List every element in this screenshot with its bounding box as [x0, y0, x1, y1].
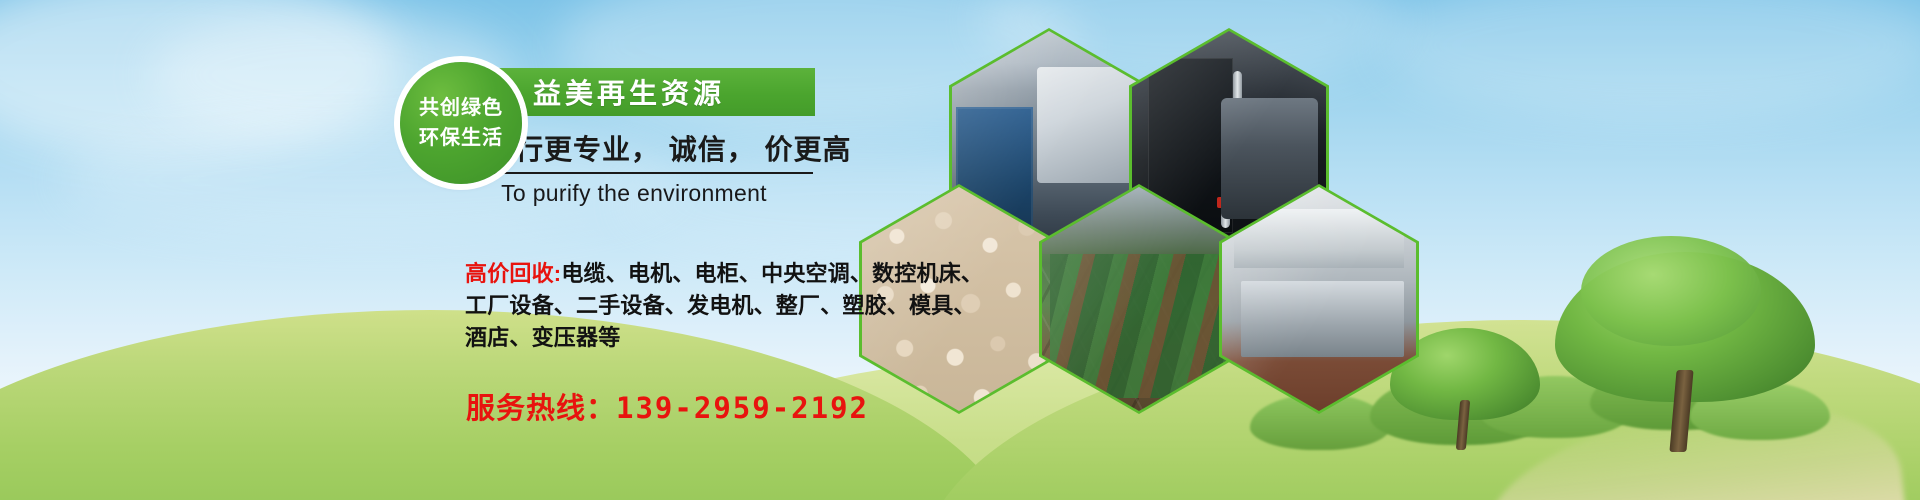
promotional-banner: 益美再生资源 共创绿色 环保生活 比同行更专业， 诚信， 价更高 To puri…	[0, 0, 1920, 500]
badge-line-1: 共创绿色	[419, 93, 503, 123]
hotline-label: 服务热线：	[466, 393, 616, 425]
recycle-line-2: 工厂设备、二手设备、发电机、整厂、塑胶、模具、	[465, 290, 983, 322]
hotline-number[interactable]: 139-2959-2192	[616, 391, 869, 425]
eco-slogan-badge: 共创绿色 环保生活	[400, 62, 522, 184]
recycle-line-3: 酒店、变压器等	[465, 322, 983, 354]
badge-line-2: 环保生活	[419, 123, 503, 153]
bush-decoration	[1690, 382, 1830, 440]
recycle-line-1-items: 电缆、电机、电柜、中央空调、数控机床、	[561, 261, 983, 286]
cloud-decoration	[1380, 0, 1920, 120]
company-name: 益美再生资源	[533, 72, 725, 112]
service-hotline[interactable]: 服务热线：139-2959-2192	[466, 385, 869, 427]
slogan-divider	[455, 172, 813, 174]
bush-decoration	[1590, 364, 1760, 430]
recycle-line-1: 高价回收:电缆、电机、电柜、中央空调、数控机床、	[465, 258, 983, 290]
dirt-path	[1475, 388, 1905, 500]
cloud-decoration	[0, 0, 400, 160]
bush-decoration	[1370, 375, 1550, 445]
recycle-keyword: 高价回收:	[465, 261, 561, 286]
hexagon-photo-grid	[925, 18, 1405, 378]
slogan-english: To purify the environment	[455, 180, 813, 207]
bush-decoration	[1480, 376, 1630, 438]
recycle-list: 高价回收:电缆、电机、电柜、中央空调、数控机床、 工厂设备、二手设备、发电机、整…	[465, 258, 983, 354]
large-tree-icon	[1555, 252, 1815, 452]
